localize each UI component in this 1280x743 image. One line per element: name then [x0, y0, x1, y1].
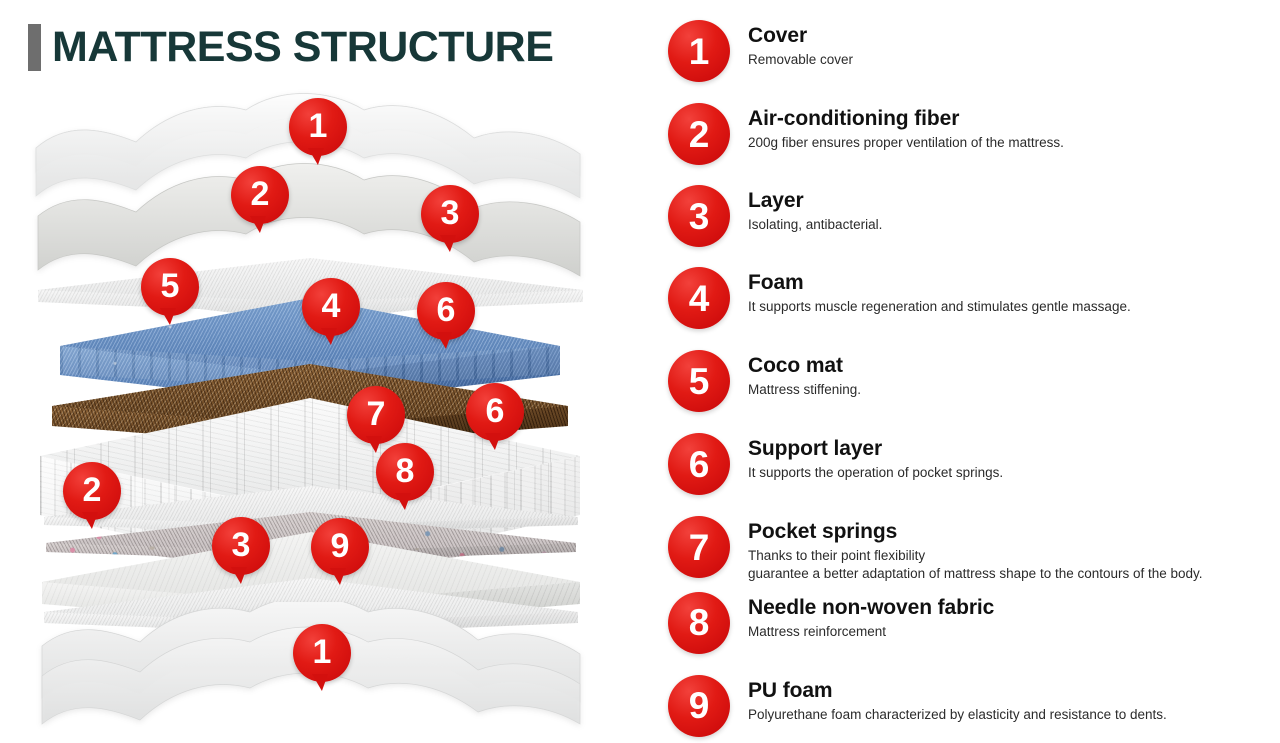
legend-title: Coco mat — [748, 354, 861, 378]
pin-number: 2 — [251, 177, 270, 211]
legend-desc: Isolating, antibacterial. — [748, 216, 882, 234]
title-text: MATTRESS STRUCTURE — [52, 26, 553, 69]
legend-pin-5: 5 — [668, 350, 730, 412]
pin-number: 1 — [309, 109, 328, 143]
illustration-pin-9-pu-foam[interactable]: 9 — [311, 518, 369, 576]
legend-pin-8: 8 — [668, 592, 730, 654]
legend-item-2[interactable]: 2 Air-conditioning fiber 200g fiber ensu… — [668, 103, 1268, 165]
legend-body: Air-conditioning fiber 200g fiber ensure… — [748, 103, 1064, 152]
legend-pin-7: 7 — [668, 516, 730, 578]
legend-item-5[interactable]: 5 Coco mat Mattress stiffening. — [668, 350, 1268, 412]
legend-pin-4: 4 — [668, 267, 730, 329]
legend-pin-3: 3 — [668, 185, 730, 247]
legend-desc: 200g fiber ensures proper ventilation of… — [748, 134, 1064, 152]
legend-title: Foam — [748, 271, 1131, 295]
legend-title: Needle non-woven fabric — [748, 596, 994, 620]
legend-item-9[interactable]: 9 PU foam Polyurethane foam characterize… — [668, 675, 1268, 737]
illustration-pin-2-fiber[interactable]: 2 — [231, 166, 289, 224]
legend-title: Pocket springs — [748, 520, 1268, 544]
legend-title: Layer — [748, 189, 882, 213]
legend-pin-number: 6 — [689, 446, 710, 483]
pin-number: 3 — [441, 196, 460, 230]
mattress-illustration: 1 2 3 5 4 6 7 6 8 2 3 9 — [18, 86, 628, 716]
title-accent-bar — [28, 24, 41, 71]
legend-body: Needle non-woven fabric Mattress reinfor… — [748, 592, 994, 641]
infographic-page: MATTRESS STRUCTURE — [0, 0, 1280, 743]
legend-pin-number: 2 — [689, 116, 710, 153]
legend-title: Air-conditioning fiber — [748, 107, 1064, 131]
illustration-pin-4-foam[interactable]: 4 — [302, 278, 360, 336]
legend-pin-number: 3 — [689, 198, 710, 235]
pin-number: 6 — [486, 394, 505, 428]
legend-desc: Thanks to their point flexibility guaran… — [748, 547, 1268, 583]
legend-pin-number: 5 — [689, 363, 710, 400]
legend-pin-number: 8 — [689, 604, 710, 641]
illustration-pin-3-layer-bottom[interactable]: 3 — [212, 517, 270, 575]
illustration-pin-6-support-lower[interactable]: 6 — [466, 383, 524, 441]
legend-desc: Removable cover — [748, 51, 853, 69]
illustration-pin-7-pocket-springs[interactable]: 7 — [347, 386, 405, 444]
legend-item-1[interactable]: 1 Cover Removable cover — [668, 20, 1268, 82]
legend-desc: Polyurethane foam characterized by elast… — [748, 706, 1167, 724]
pin-number: 7 — [367, 397, 386, 431]
legend-item-7[interactable]: 7 Pocket springs Thanks to their point f… — [668, 516, 1268, 583]
pin-number: 3 — [232, 528, 251, 562]
legend-pin-9: 9 — [668, 675, 730, 737]
pin-number: 9 — [331, 529, 350, 563]
legend-pin-number: 1 — [689, 33, 710, 70]
legend-pin-number: 4 — [689, 280, 710, 317]
legend-item-6[interactable]: 6 Support layer It supports the operatio… — [668, 433, 1268, 495]
illustration-pin-1-cover-top[interactable]: 1 — [289, 98, 347, 156]
illustration-pin-6-support-upper[interactable]: 6 — [417, 282, 475, 340]
legend-body: Cover Removable cover — [748, 20, 853, 69]
legend-desc: It supports muscle regeneration and stim… — [748, 298, 1131, 316]
legend-desc: It supports the operation of pocket spri… — [748, 464, 1003, 482]
legend-pin-2: 2 — [668, 103, 730, 165]
legend-desc: Mattress stiffening. — [748, 381, 861, 399]
legend-pin-6: 6 — [668, 433, 730, 495]
pin-number: 5 — [161, 269, 180, 303]
legend-item-3[interactable]: 3 Layer Isolating, antibacterial. — [668, 185, 1268, 247]
legend-desc: Mattress reinforcement — [748, 623, 994, 641]
legend-item-8[interactable]: 8 Needle non-woven fabric Mattress reinf… — [668, 592, 1268, 654]
legend-pin-1: 1 — [668, 20, 730, 82]
illustration-pin-8-needle-fabric[interactable]: 8 — [376, 443, 434, 501]
legend-list: 1 Cover Removable cover 2 Air-conditioni… — [668, 8, 1268, 737]
legend-title: Cover — [748, 24, 853, 48]
legend-body: Support layer It supports the operation … — [748, 433, 1003, 482]
illustration-pin-2-fiber-side[interactable]: 2 — [63, 462, 121, 520]
page-title: MATTRESS STRUCTURE — [28, 24, 553, 71]
pin-number: 1 — [313, 635, 332, 669]
legend-title: Support layer — [748, 437, 1003, 461]
legend-pin-number: 9 — [689, 687, 710, 724]
pin-number: 2 — [83, 473, 102, 507]
legend-body: Layer Isolating, antibacterial. — [748, 185, 882, 234]
pin-number: 4 — [322, 289, 341, 323]
pin-number: 6 — [437, 293, 456, 327]
legend-item-4[interactable]: 4 Foam It supports muscle regeneration a… — [668, 267, 1268, 329]
illustration-pin-5-coco-mat[interactable]: 5 — [141, 258, 199, 316]
legend-pin-number: 7 — [689, 529, 710, 566]
illustration-pin-1-cover-bottom[interactable]: 1 — [293, 624, 351, 682]
legend-body: Pocket springs Thanks to their point fle… — [748, 516, 1268, 583]
legend-title: PU foam — [748, 679, 1167, 703]
legend-body: Foam It supports muscle regeneration and… — [748, 267, 1131, 316]
legend-body: Coco mat Mattress stiffening. — [748, 350, 861, 399]
illustration-pin-3-layer-top[interactable]: 3 — [421, 185, 479, 243]
pin-number: 8 — [396, 454, 415, 488]
legend-body: PU foam Polyurethane foam characterized … — [748, 675, 1167, 724]
